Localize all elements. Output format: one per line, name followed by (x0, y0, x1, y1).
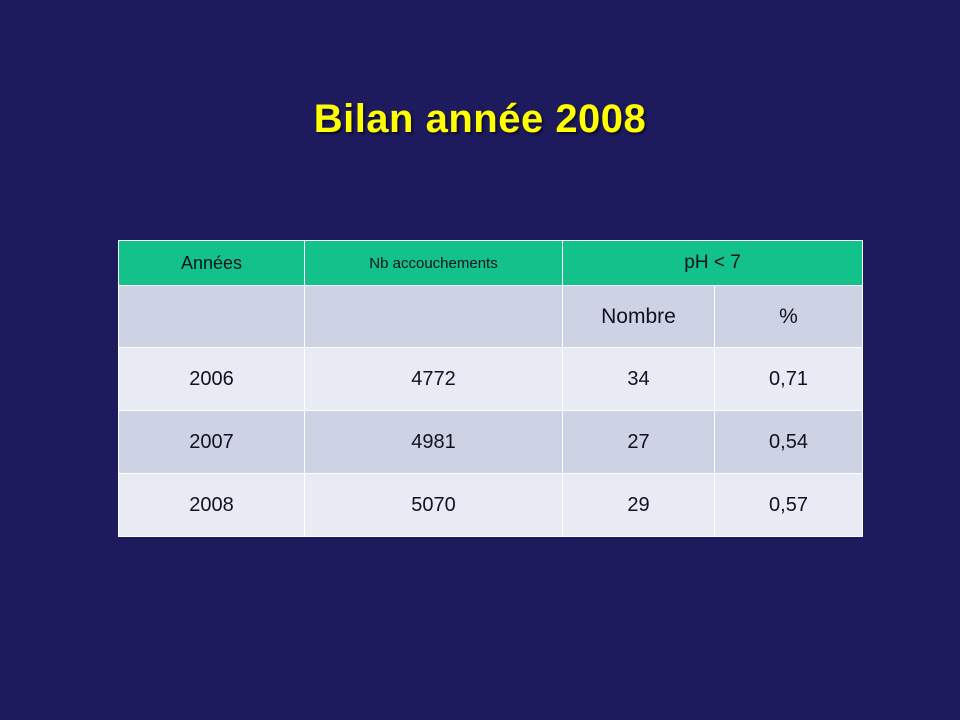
header-nb-accouchements: Nb accouchements (305, 241, 563, 286)
table-row: 2007 4981 27 0,54 (119, 411, 863, 474)
cell-nombre: 27 (563, 411, 715, 474)
subheader-nombre: Nombre (563, 286, 715, 348)
bilan-table: Années Nb accouchements pH < 7 Nombre % … (118, 240, 863, 537)
header-ph: pH < 7 (563, 241, 863, 286)
cell-pourcent: 0,54 (715, 411, 863, 474)
page-title: Bilan année 2008 (0, 97, 960, 142)
cell-annee: 2008 (119, 474, 305, 537)
table-row: 2008 5070 29 0,57 (119, 474, 863, 537)
cell-pourcent: 0,57 (715, 474, 863, 537)
cell-nb-accouchements: 4981 (305, 411, 563, 474)
table-header-row: Années Nb accouchements pH < 7 (119, 241, 863, 286)
cell-nb-accouchements: 5070 (305, 474, 563, 537)
cell-nombre: 34 (563, 348, 715, 411)
slide: Bilan année 2008 Années Nb accouchements… (0, 0, 960, 720)
cell-nb-accouchements: 4772 (305, 348, 563, 411)
cell-nombre: 29 (563, 474, 715, 537)
cell-annee: 2007 (119, 411, 305, 474)
cell-annee: 2006 (119, 348, 305, 411)
header-annees: Années (119, 241, 305, 286)
table-subheader-row: Nombre % (119, 286, 863, 348)
cell-pourcent: 0,71 (715, 348, 863, 411)
bilan-table-container: Années Nb accouchements pH < 7 Nombre % … (118, 240, 862, 537)
subheader-blank-nb (305, 286, 563, 348)
table-row: 2006 4772 34 0,71 (119, 348, 863, 411)
subheader-blank-annees (119, 286, 305, 348)
subheader-pourcent: % (715, 286, 863, 348)
